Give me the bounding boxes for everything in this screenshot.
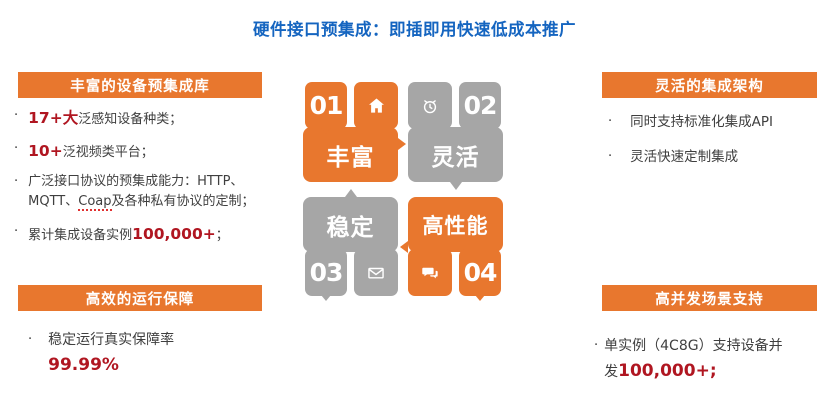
bullet-glyph: · xyxy=(14,139,18,159)
bullet-glyph: · xyxy=(14,106,18,126)
quadrant-03[interactable]: 稳定 03 xyxy=(303,197,398,297)
panel-heading-high-concurrency: 高并发场景支持 xyxy=(602,285,817,311)
quadrant-02[interactable]: 02 灵活 xyxy=(408,82,503,182)
quadrant-label-04: 高性能 xyxy=(423,210,489,240)
list-item: · 10+泛视频类平台； xyxy=(14,139,290,163)
list-item-line-2b: 及各种私有协议的定制； xyxy=(112,194,255,209)
list-item-text: 稳定运行真实保障率 99.99% xyxy=(48,330,290,378)
uptime-value: 99.99% xyxy=(48,355,119,375)
envelope-icon-tile xyxy=(354,249,398,296)
list-item: · 累计集成设备实例100,000+； xyxy=(14,222,290,246)
bullet-glyph: · xyxy=(594,336,598,356)
list-item-suffix: ； xyxy=(216,228,229,243)
list-item-text: 10+泛视频类平台； xyxy=(28,139,290,163)
quadrant-label-02: 灵活 xyxy=(432,138,480,172)
envelope-icon xyxy=(367,264,385,282)
quadrant-label-03: 稳定 xyxy=(327,208,375,242)
list-item-text: 累计集成设备实例100,000+； xyxy=(28,222,290,246)
list-item: · 单实例（4C8G）支持设备并 发100,000+; xyxy=(594,336,829,384)
list-item: · 17+大泛感知设备种类； xyxy=(14,106,290,130)
list-item: · 广泛接口协议的预集成能力：HTTP、 MQTT、Coap及各种私有协议的定制… xyxy=(14,172,290,212)
quadrant-label-box-03: 稳定 xyxy=(303,197,398,252)
quadrant-number-badge-04: 04 xyxy=(459,249,501,296)
list-item-line-1: 广泛接口协议的预集成能力：HTTP、 xyxy=(28,174,243,189)
highlight-value: 10+ xyxy=(28,142,63,160)
list-item-text: 同时支持标准化集成API xyxy=(630,112,824,133)
chat-bubble-icon-tile xyxy=(408,249,452,296)
panel-heading-flexible-architecture: 灵活的集成架构 xyxy=(602,72,817,98)
list-item: · 稳定运行真实保障率 99.99% xyxy=(28,330,290,378)
pointer-arrow-left xyxy=(400,241,408,253)
highlight-value: 100,000+ xyxy=(132,225,216,243)
pointer-arrow-down xyxy=(450,182,462,190)
list-item-prefix: 发 xyxy=(604,364,618,380)
list-item-text: 广泛接口协议的预集成能力：HTTP、 MQTT、Coap及各种私有协议的定制； xyxy=(28,172,290,212)
page-title: 硬件接口预集成：即插即用快速低成本推广 xyxy=(0,16,829,40)
quadrant-label-box-04: 高性能 xyxy=(408,197,503,252)
quadrant-label-01: 丰富 xyxy=(327,138,375,172)
chat-bubble-icon xyxy=(421,264,439,282)
list-item-text: 单实例（4C8G）支持设备并 发100,000+; xyxy=(604,336,829,384)
quadrant-number-02: 02 xyxy=(464,91,497,120)
highlight-value: 17+大 xyxy=(28,109,78,127)
bullet-list-high-concurrency: · 单实例（4C8G）支持设备并 发100,000+; xyxy=(594,336,829,393)
quadrant-01[interactable]: 01 丰富 xyxy=(303,82,398,182)
home-icon xyxy=(367,96,386,115)
list-item-text: 灵活快速定制集成 xyxy=(630,147,824,168)
bullet-list-rich-device-library: · 17+大泛感知设备种类； · 10+泛视频类平台； · 广泛接口协议的预集成… xyxy=(14,106,290,255)
home-icon-tile xyxy=(354,82,398,129)
list-item-prefix: 累计集成设备实例 xyxy=(28,228,132,243)
list-item-line-2a: MQTT、 xyxy=(28,194,78,209)
panel-heading-efficient-operation: 高效的运行保障 xyxy=(18,285,262,311)
bullet-glyph: · xyxy=(14,222,18,242)
quadrant-label-box-01: 丰富 xyxy=(303,127,398,182)
quadrant-number-01: 01 xyxy=(310,91,343,120)
concurrency-value: 100,000+; xyxy=(618,361,716,381)
panel-heading-rich-device-library: 丰富的设备预集成库 xyxy=(18,72,262,98)
pointer-arrow-up xyxy=(345,189,357,197)
list-item: · 同时支持标准化集成API xyxy=(608,112,824,133)
four-quadrant-diagram: 01 丰富 02 灵活 稳定 xyxy=(303,82,503,297)
alarm-clock-icon xyxy=(421,97,439,115)
bullet-glyph: · xyxy=(14,172,18,192)
quadrant-04[interactable]: 高性能 04 xyxy=(408,197,503,297)
pointer-arrow-right xyxy=(398,138,406,150)
list-item-text: 17+大泛感知设备种类； xyxy=(28,106,290,130)
alarm-clock-icon-tile xyxy=(408,82,452,129)
bullet-list-efficient-operation: · 稳定运行真实保障率 99.99% xyxy=(28,330,290,387)
bullet-list-flexible-architecture: · 同时支持标准化集成API · 灵活快速定制集成 xyxy=(608,112,824,182)
quadrant-number-04: 04 xyxy=(464,258,497,287)
misspelled-word: Coap xyxy=(78,194,111,211)
quadrant-number-03: 03 xyxy=(310,258,343,287)
quadrant-number-badge-02: 02 xyxy=(459,82,501,129)
list-item-line-1: 稳定运行真实保障率 xyxy=(48,332,174,348)
quadrant-label-box-02: 灵活 xyxy=(408,127,503,182)
list-item-line-1: 单实例（4C8G）支持设备并 xyxy=(604,338,782,354)
quadrant-number-badge-03: 03 xyxy=(305,249,347,296)
list-item-rest: 泛感知设备种类； xyxy=(78,112,182,127)
bullet-glyph: · xyxy=(608,112,612,132)
list-item-rest: 泛视频类平台； xyxy=(63,145,154,160)
quadrant-number-badge-01: 01 xyxy=(305,82,347,129)
list-item: · 灵活快速定制集成 xyxy=(608,147,824,168)
bullet-glyph: · xyxy=(608,147,612,167)
bullet-glyph: · xyxy=(28,330,32,350)
